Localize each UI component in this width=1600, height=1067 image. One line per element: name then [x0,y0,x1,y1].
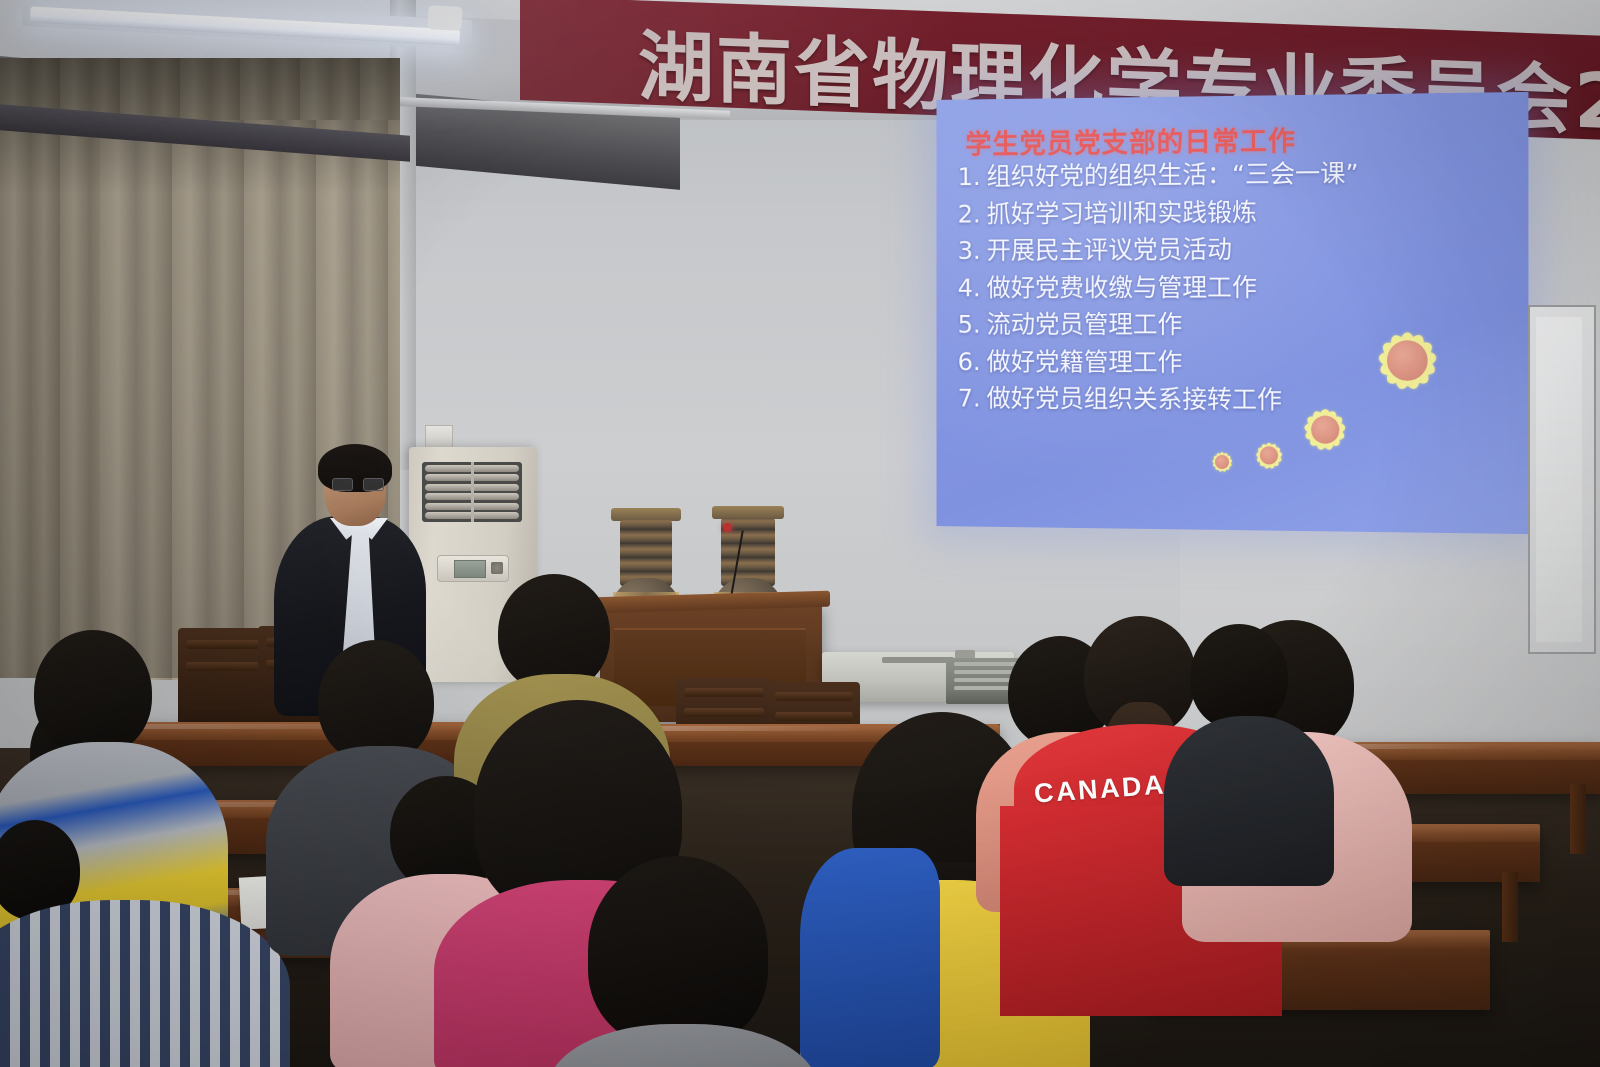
slide-item-number: 1. [958,164,987,189]
student-torso [800,848,940,1067]
projection-screen: 学生党员党支部的日常工作 1.组织好党的组织生活：“三会一课” 2.抓好学习培训… [937,92,1529,534]
desk-leg [1570,784,1586,854]
sunflower-icon [1292,396,1359,463]
slide-item-text: 流动党员管理工作 [987,310,1183,339]
slide-item-number: 3. [958,238,987,263]
sunflower-icon [1248,434,1290,476]
sunflower-icon [1206,446,1238,478]
ac-power-button[interactable] [491,562,503,574]
slide-item-number: 5. [958,312,987,337]
chair-slat [684,708,765,717]
sunflower-center [1260,446,1278,464]
slide-item-text: 抓好学习培训和实践锻炼 [987,197,1257,228]
slide-item-text: 做好党费收缴与管理工作 [987,272,1257,301]
slide-item: 4.做好党费收缴与管理工作 [958,274,1516,300]
ac-louver-divider [471,462,474,522]
slide-title: 学生党员党支部的日常工作 [965,119,1296,161]
slide-item: 2.抓好学习培训和实践锻炼 [958,197,1516,226]
vase-neck [620,520,672,586]
slide-item-text: 做好党籍管理工作 [987,347,1183,376]
slide-item: 3.开展民主评议党员活动 [958,236,1516,263]
console-slot [882,657,954,663]
student-torso [1164,716,1334,886]
lecture-hall-photo: 湖南省物理化学专业委员会2014年 学生党员党支部的日常工作 1.组织好党的组织… [0,0,1600,1067]
chair-slat [775,692,852,701]
light-end-cap [427,5,462,31]
sunflower-center [1215,455,1229,469]
sunflower-center [1311,416,1339,444]
slide-item: 1.组织好党的组织生活：“三会一课” [958,159,1516,189]
slide-item-number: 2. [958,201,987,226]
slide-item-text: 开展民主评议党员活动 [987,235,1232,265]
ac-display-screen [454,560,486,578]
microphone-indicator-icon [723,523,732,532]
slide-item-number: 7. [958,386,987,411]
student-head [34,630,152,756]
student-head [588,856,768,1046]
chair-slat [684,688,765,697]
slide-item-text: 组织好党的组织生活：“三会一课” [987,159,1359,191]
wall-notice-frame [1528,305,1596,654]
notice-board-surface [1536,317,1582,642]
sunflower-center [1387,340,1428,381]
slide-item-number: 4. [958,275,987,300]
ac-control-panel[interactable] [437,555,509,582]
sunflower-icon [1361,314,1455,407]
desk-gloss [1330,744,1600,749]
chair-slat [775,712,852,721]
desk-leg [1502,872,1518,942]
glasses-icon [332,478,382,489]
slide-item-number: 6. [958,349,987,374]
slide-item-text: 做好党员组织关系接转工作 [987,384,1282,414]
wall-junction-box [425,425,453,449]
student-head [1190,624,1288,730]
